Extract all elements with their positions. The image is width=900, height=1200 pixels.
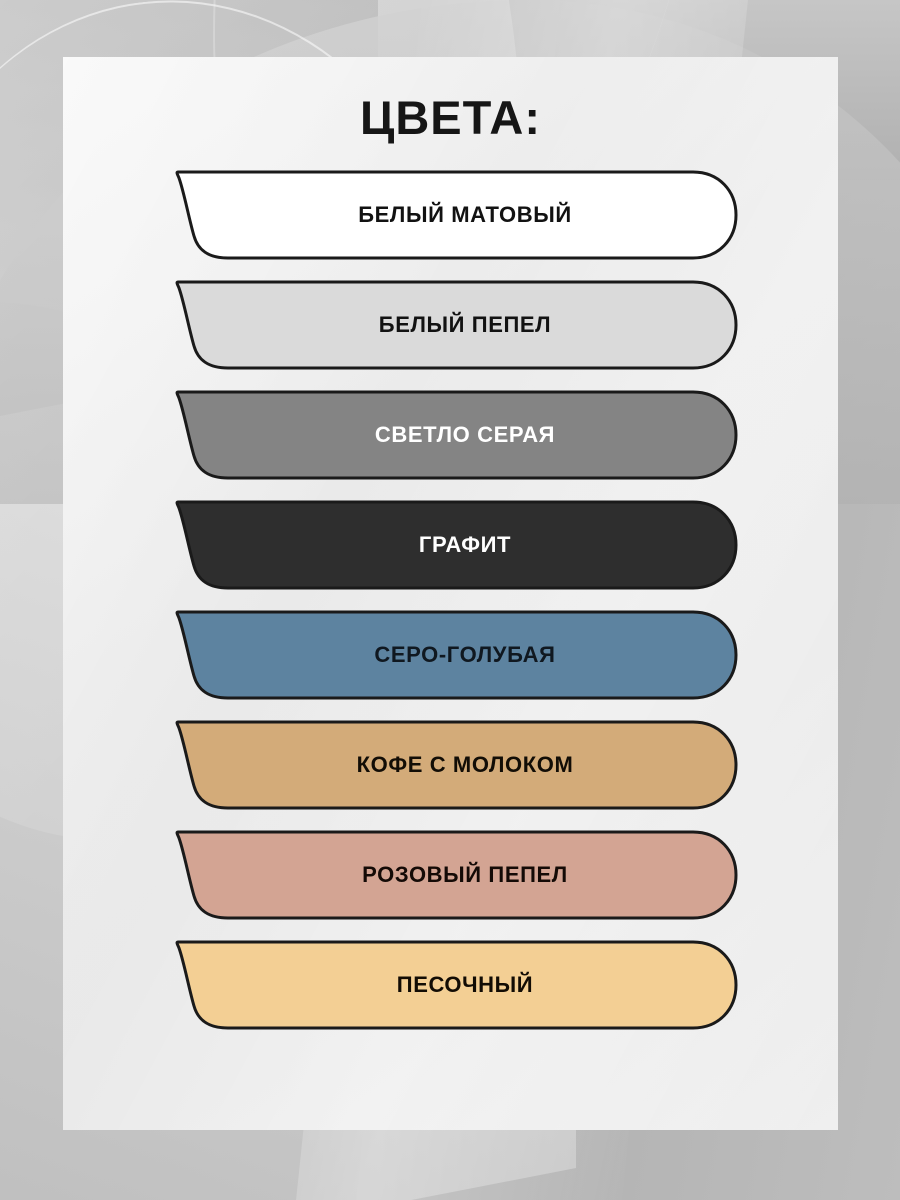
color-swatch[interactable]: СВЕТЛО СЕРАЯ — [168, 390, 738, 480]
swatch-fill-path — [177, 282, 736, 368]
color-swatch[interactable]: КОФЕ С МОЛОКОМ — [168, 720, 738, 810]
swatch-shape — [168, 280, 738, 370]
swatch-fill-path — [177, 722, 736, 808]
swatch-shape — [168, 610, 738, 700]
color-swatch[interactable]: БЕЛЫЙ МАТОВЫЙ — [168, 170, 738, 260]
swatch-fill-path — [177, 612, 736, 698]
swatch-fill-path — [177, 392, 736, 478]
color-swatch[interactable]: ГРАФИТ — [168, 500, 738, 590]
swatch-shape — [168, 170, 738, 260]
color-swatch-list: БЕЛЫЙ МАТОВЫЙБЕЛЫЙ ПЕПЕЛСВЕТЛО СЕРАЯГРАФ… — [168, 170, 738, 1030]
swatch-shape — [168, 940, 738, 1030]
color-swatch[interactable]: ПЕСОЧНЫЙ — [168, 940, 738, 1030]
color-swatch[interactable]: БЕЛЫЙ ПЕПЕЛ — [168, 280, 738, 370]
swatch-fill-path — [177, 502, 736, 588]
swatch-fill-path — [177, 172, 736, 258]
swatch-shape — [168, 500, 738, 590]
poster-canvas: ЦВЕТА: БЕЛЫЙ МАТОВЫЙБЕЛЫЙ ПЕПЕЛСВЕТЛО СЕ… — [0, 0, 900, 1200]
swatch-fill-path — [177, 942, 736, 1028]
color-card-panel: ЦВЕТА: БЕЛЫЙ МАТОВЫЙБЕЛЫЙ ПЕПЕЛСВЕТЛО СЕ… — [63, 57, 838, 1130]
swatch-shape — [168, 720, 738, 810]
swatch-fill-path — [177, 832, 736, 918]
swatch-shape — [168, 390, 738, 480]
page-title: ЦВЕТА: — [63, 90, 838, 145]
swatch-shape — [168, 830, 738, 920]
color-swatch[interactable]: РОЗОВЫЙ ПЕПЕЛ — [168, 830, 738, 920]
color-swatch[interactable]: СЕРО-ГОЛУБАЯ — [168, 610, 738, 700]
